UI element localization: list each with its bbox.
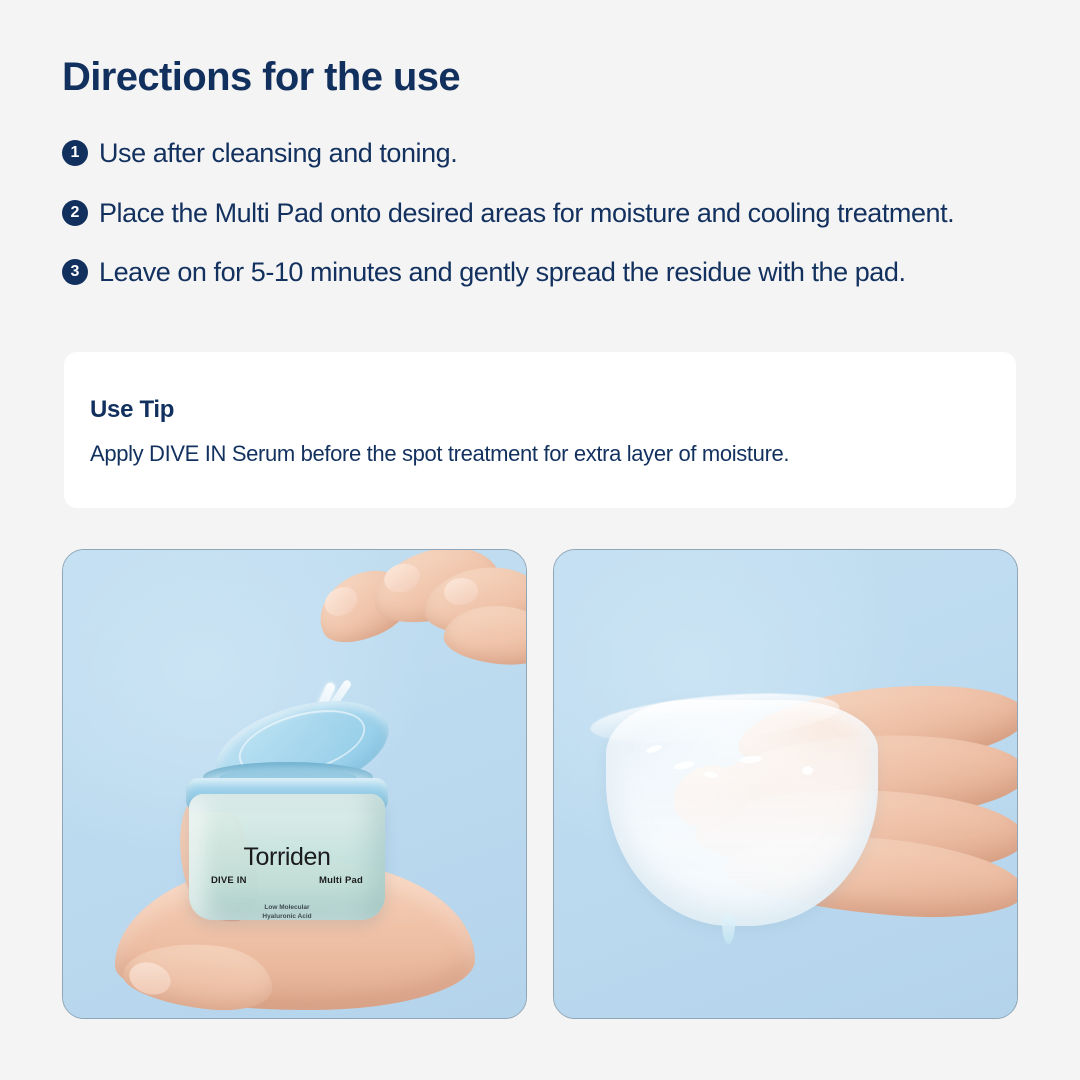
product-photo-gallery: Torriden DIVE IN Multi Pad Low Molecular…: [62, 549, 1018, 1019]
brand-name: Torriden: [189, 845, 385, 870]
product-jar: Torriden DIVE IN Multi Pad Low Molecular…: [189, 770, 385, 920]
list-item: 1 Use after cleansing and toning.: [62, 136, 1052, 171]
ingredient-line-2: Hyaluronic Acid: [189, 913, 385, 922]
photo-jar-with-pad: Torriden DIVE IN Multi Pad Low Molecular…: [62, 549, 527, 1019]
product-type: Multi Pad: [319, 875, 363, 886]
page-title: Directions for the use: [62, 54, 460, 100]
use-tip-title: Use Tip: [90, 396, 1016, 425]
product-line: DIVE IN: [211, 875, 247, 886]
photo-pad-in-hand: [553, 549, 1018, 1019]
product-instruction-page: Directions for the use 1 Use after clean…: [0, 0, 1080, 1080]
step-number-badge: 1: [62, 140, 88, 166]
step-text: Leave on for 5-10 minutes and gently spr…: [99, 255, 906, 290]
step-text: Use after cleansing and toning.: [99, 136, 457, 171]
step-text: Place the Multi Pad onto desired areas f…: [99, 196, 954, 231]
step-number-badge: 3: [62, 259, 88, 285]
upper-hand-illustration: [294, 549, 527, 694]
use-tip-card: Use Tip Apply DIVE IN Serum before the s…: [64, 352, 1016, 508]
list-item: 2 Place the Multi Pad onto desired areas…: [62, 196, 1052, 231]
essence-sparkle: [802, 766, 813, 775]
step-number-badge: 2: [62, 200, 88, 226]
jar-label: Torriden DIVE IN Multi Pad: [189, 845, 385, 886]
ingredient-line-1: Low Molecular: [189, 904, 385, 913]
jar-body-shape: Torriden DIVE IN Multi Pad Low Molecular…: [189, 794, 385, 920]
product-line-row: DIVE IN Multi Pad: [189, 870, 385, 886]
use-tip-body: Apply DIVE IN Serum before the spot trea…: [90, 440, 1016, 469]
list-item: 3 Leave on for 5-10 minutes and gently s…: [62, 255, 1052, 290]
directions-step-list: 1 Use after cleansing and toning. 2 Plac…: [62, 136, 1052, 315]
ingredient-text: Low Molecular Hyaluronic Acid: [189, 904, 385, 922]
